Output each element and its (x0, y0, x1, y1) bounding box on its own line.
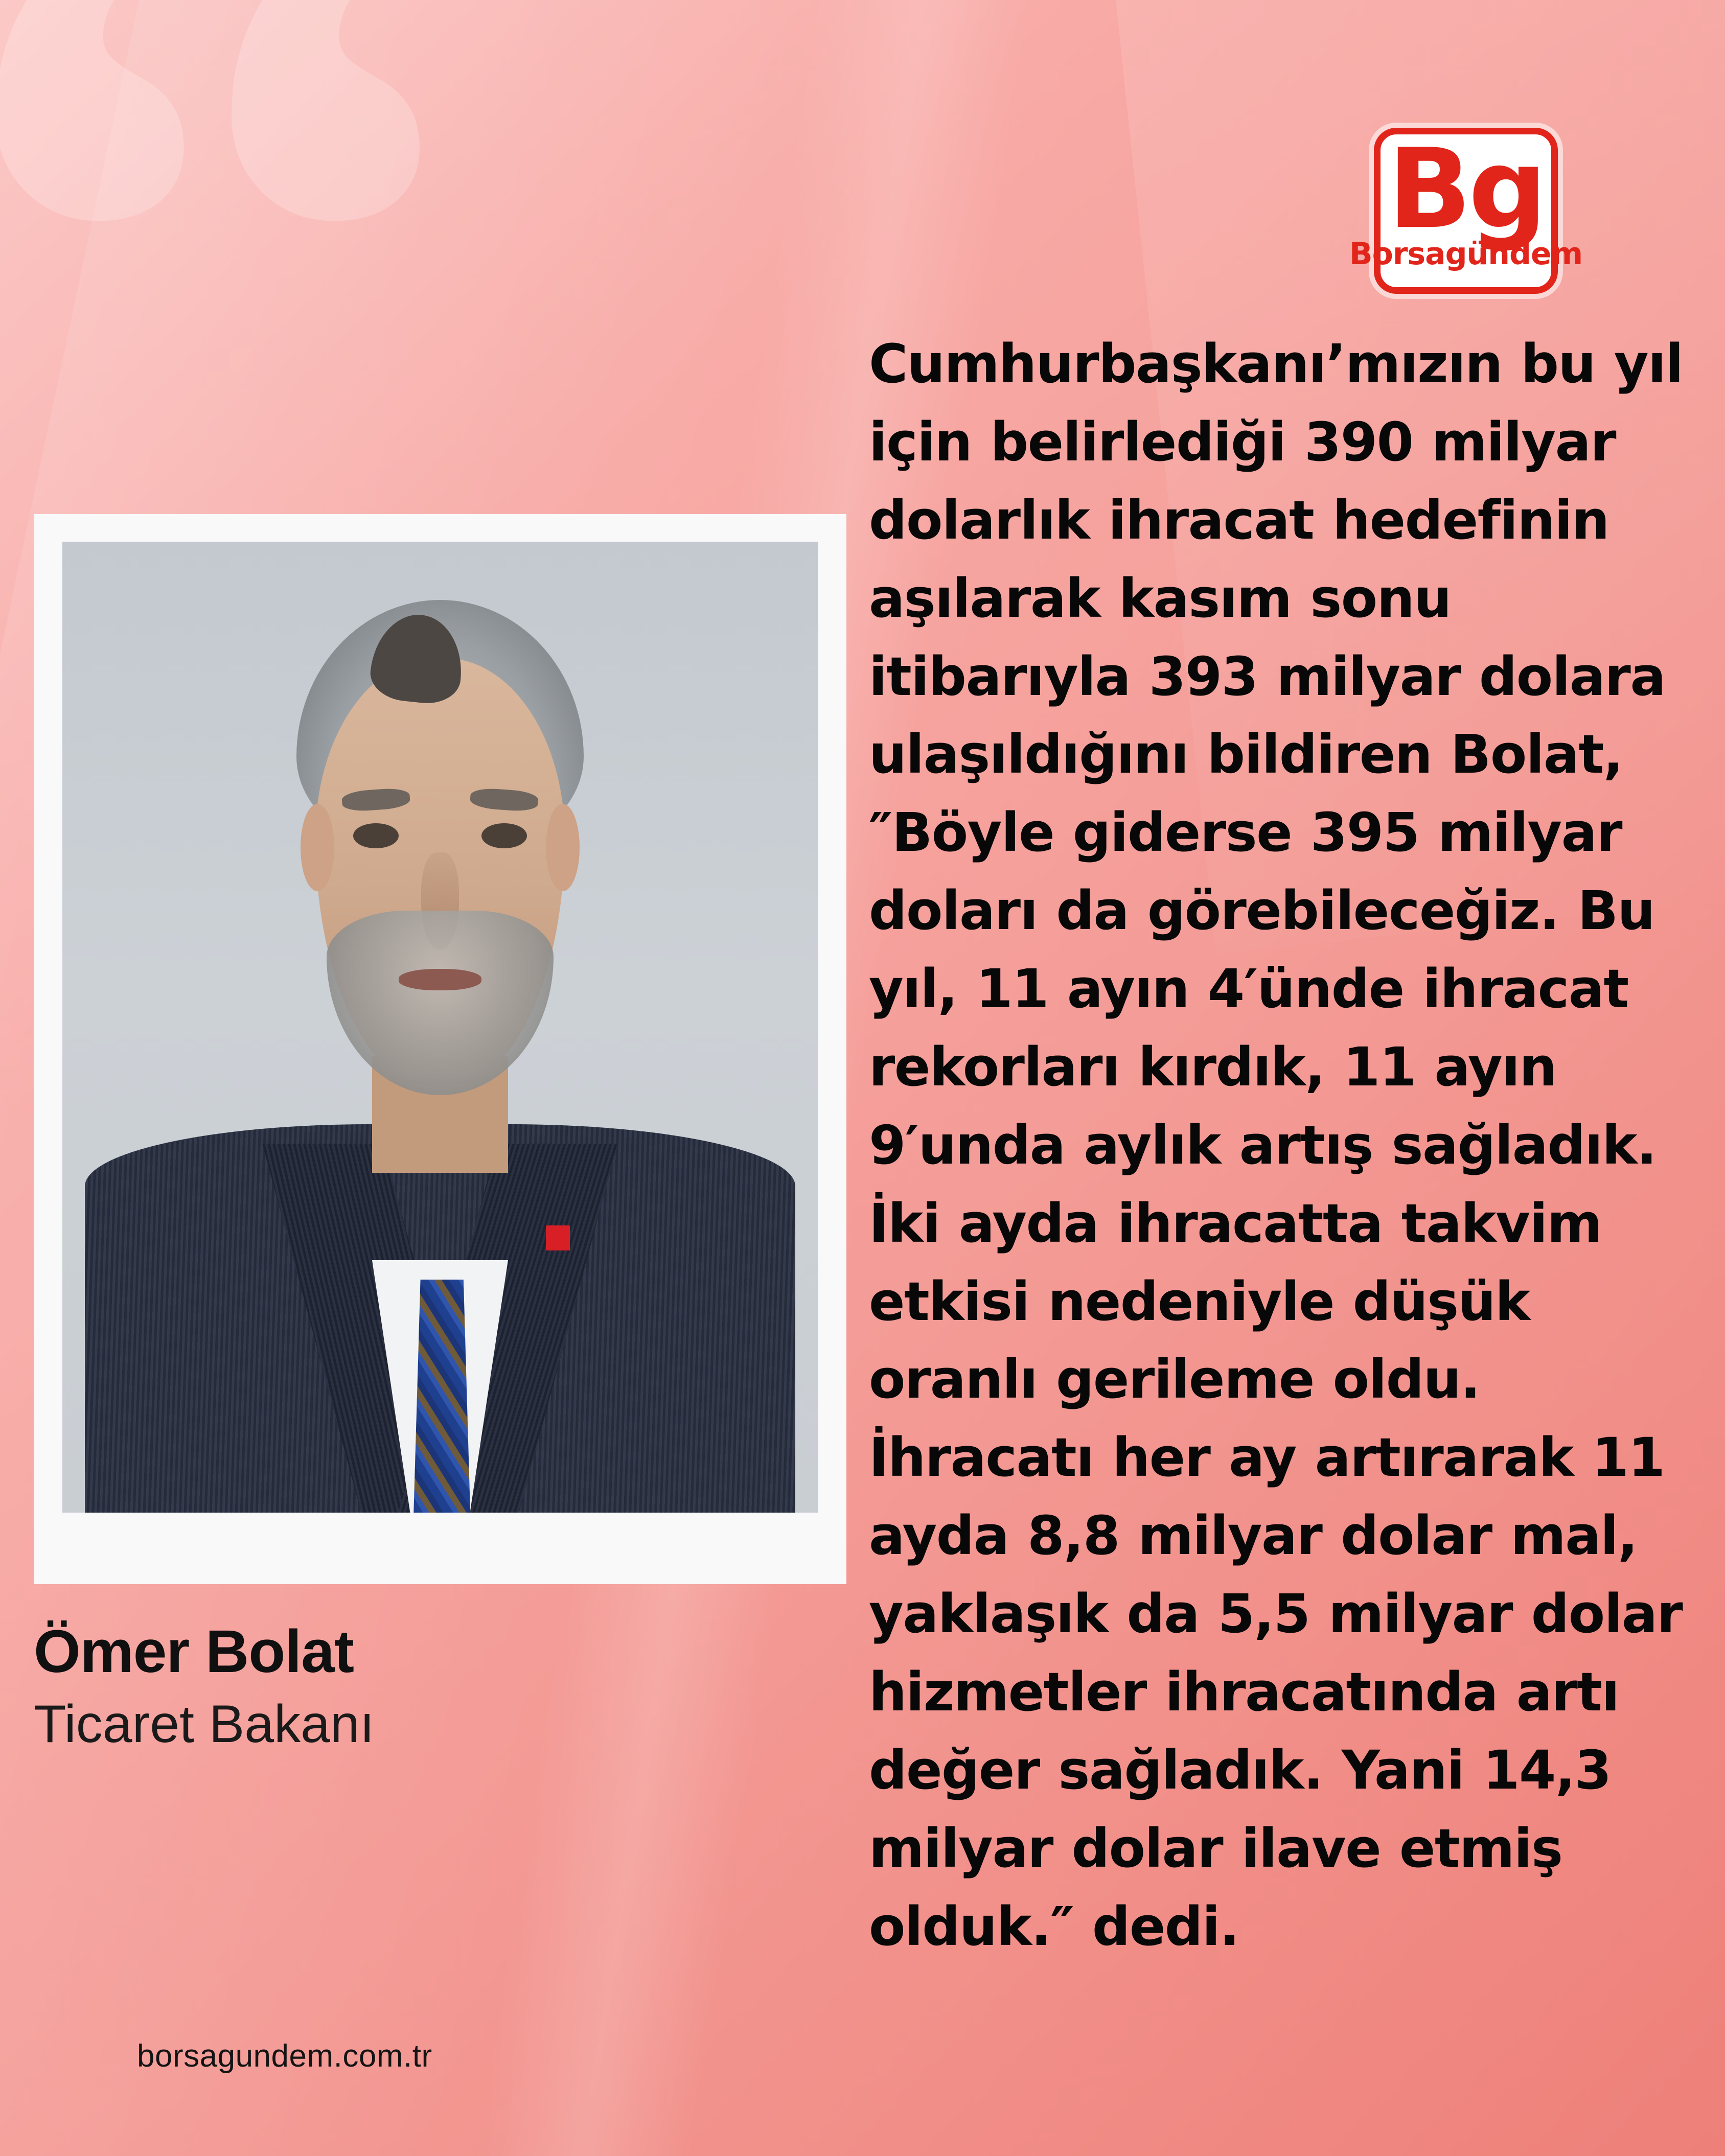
logo-wordmark: Borsagündem (1349, 239, 1582, 269)
portrait-photo (62, 542, 818, 1513)
portrait-ear-right (546, 804, 580, 891)
quote-card: “ Bg Borsagündem Ömer B (0, 0, 1725, 2156)
person-title: Ticaret Bakanı (34, 1698, 375, 1751)
logo-mark: Bg (1388, 137, 1544, 241)
site-url[interactable]: borsagundem.com.tr (137, 2041, 432, 2072)
portrait-frame (34, 514, 846, 1584)
portrait-flag-pin (546, 1225, 570, 1250)
portrait-tie (413, 1280, 470, 1513)
portrait-mouth (399, 969, 482, 990)
borsagundem-logo[interactable]: Bg Borsagündem (1374, 128, 1558, 294)
portrait-beard (327, 911, 553, 1095)
portrait-ear-left (301, 804, 335, 891)
portrait-eye-left (353, 823, 399, 848)
portrait-eye-right (481, 823, 527, 848)
quote-text: Cumhurbaşkanı’mızın bu yıl için belirled… (869, 325, 1702, 1965)
person-name: Ömer Bolat (34, 1621, 354, 1682)
